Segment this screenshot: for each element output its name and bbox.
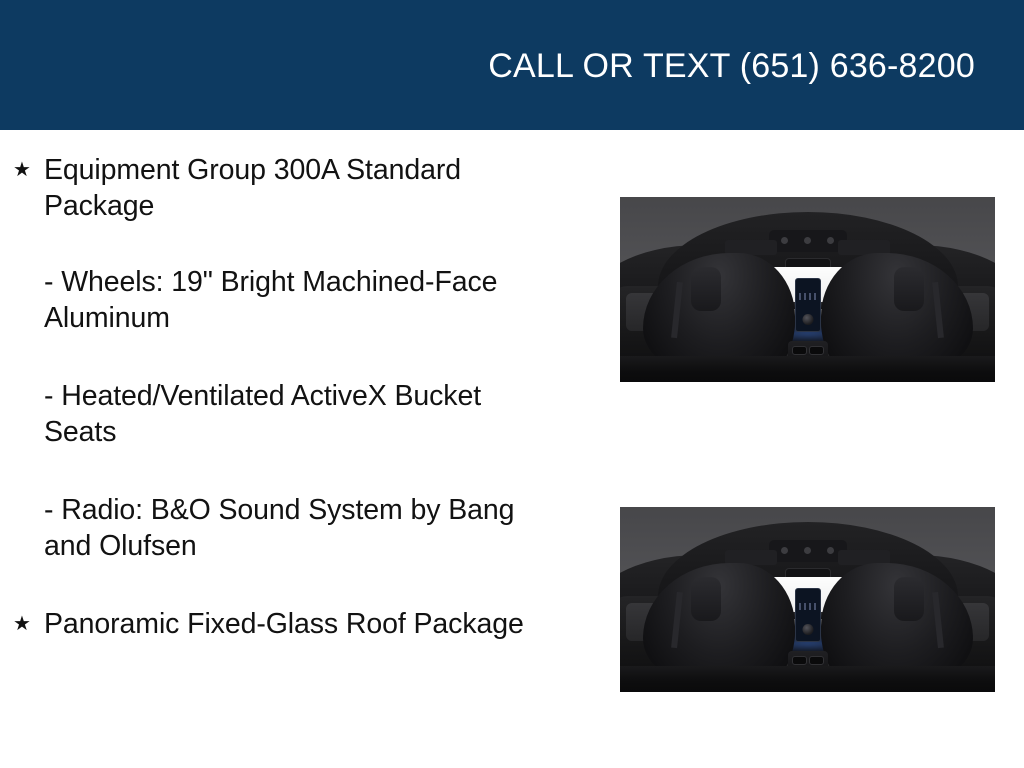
list-item: - Heated/Ventilated ActiveX Bucket Seats bbox=[0, 378, 585, 450]
dome-light-icon bbox=[804, 237, 811, 244]
vehicle-features-list: ★ Equipment Group 300A Standard Package … bbox=[0, 152, 585, 642]
content-area: ★ Equipment Group 300A Standard Package … bbox=[0, 130, 1024, 768]
star-bullet-icon: ★ bbox=[13, 608, 33, 641]
list-item-label: Equipment Group 300A Standard Package bbox=[44, 152, 545, 224]
dome-light-icon bbox=[781, 547, 788, 554]
call-or-text-phone-label[interactable]: CALL OR TEXT (651) 636-8200 bbox=[488, 47, 975, 85]
vehicle-interior-360-panorama-bottom[interactable] bbox=[620, 507, 995, 692]
headrest-left bbox=[691, 267, 721, 311]
list-item: - Wheels: 19" Bright Machined-Face Alumi… bbox=[0, 264, 585, 336]
list-item-label: - Wheels: 19" Bright Machined-Face Alumi… bbox=[44, 264, 545, 336]
dome-light-icon bbox=[827, 237, 834, 244]
overhead-console-icon bbox=[769, 540, 847, 562]
headrest-right bbox=[894, 577, 924, 621]
list-item: - Radio: B&O Sound System by Bang and Ol… bbox=[0, 492, 585, 564]
overhead-console-icon bbox=[769, 230, 847, 252]
dome-light-icon bbox=[781, 237, 788, 244]
list-item: ★ Equipment Group 300A Standard Package bbox=[0, 152, 585, 224]
headrest-left bbox=[691, 577, 721, 621]
star-bullet-icon: ★ bbox=[13, 154, 33, 187]
header-banner: CALL OR TEXT (651) 636-8200 bbox=[0, 0, 1024, 130]
volume-knob-icon bbox=[802, 314, 813, 325]
cup-holder-right bbox=[809, 656, 824, 665]
touchscreen-controls-row bbox=[799, 603, 817, 610]
volume-knob-icon bbox=[802, 624, 813, 635]
dome-light-icon bbox=[827, 547, 834, 554]
list-item-label: - Radio: B&O Sound System by Bang and Ol… bbox=[44, 492, 545, 564]
floor-band bbox=[620, 356, 995, 382]
cup-holder-right bbox=[809, 346, 824, 355]
cup-holder-left bbox=[792, 346, 807, 355]
panorama-background bbox=[620, 197, 995, 382]
vehicle-interior-360-panorama-top[interactable] bbox=[620, 197, 995, 382]
headrest-right bbox=[894, 267, 924, 311]
panorama-background bbox=[620, 507, 995, 692]
dome-light-icon bbox=[804, 547, 811, 554]
touchscreen-controls-row bbox=[799, 293, 817, 300]
list-item: ★ Panoramic Fixed-Glass Roof Package bbox=[0, 606, 585, 642]
list-item-label: - Heated/Ventilated ActiveX Bucket Seats bbox=[44, 378, 545, 450]
floor-band bbox=[620, 666, 995, 692]
cup-holder-left bbox=[792, 656, 807, 665]
list-item-label: Panoramic Fixed-Glass Roof Package bbox=[44, 606, 545, 642]
